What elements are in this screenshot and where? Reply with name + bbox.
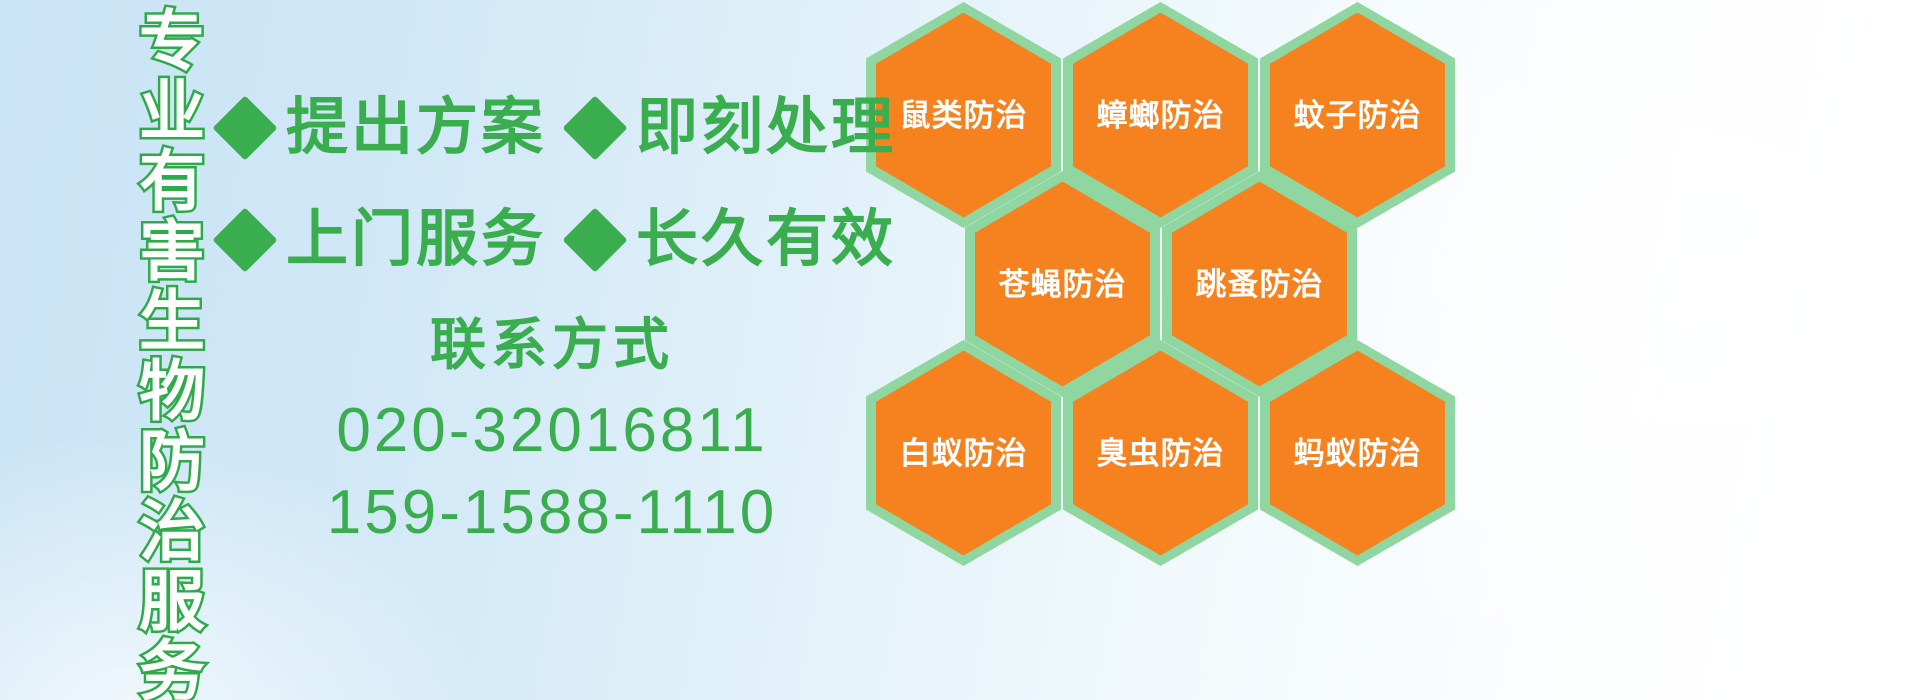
diamond-bullet-icon xyxy=(212,207,277,272)
feature-list: 提出方案 即刻处理 上门服务 长久有效 xyxy=(222,72,882,296)
service-label: 苍蝇防治 xyxy=(999,269,1127,300)
hex-inner: 跳蚤防治 xyxy=(1172,182,1347,387)
hex-inner: 蟑螂防治 xyxy=(1073,13,1248,218)
vertical-headline: 专业有害生物防治服务 xyxy=(96,6,200,686)
diamond-bullet-icon xyxy=(212,95,277,160)
feature-row: 提出方案 即刻处理 xyxy=(222,72,882,184)
service-label: 臭虫防治 xyxy=(1097,438,1225,469)
promo-banner: 专业有害生物防治服务 提出方案 即刻处理 上门服务 长久有效 联系方式 xyxy=(0,0,1920,700)
service-honeycomb: 鼠类防治 蟑螂防治 蚊子防治 苍蝇防治 跳蚤防治 白蚁防治 xyxy=(858,0,1458,700)
diamond-bullet-icon xyxy=(562,95,627,160)
feature-label: 上门服务 xyxy=(286,209,546,271)
feature-item-longlasting: 长久有效 xyxy=(572,209,896,271)
hex-inner: 白蚁防治 xyxy=(876,351,1051,556)
feature-item-immediate: 即刻处理 xyxy=(572,97,896,159)
feature-label: 长久有效 xyxy=(636,209,896,271)
hex-inner: 蚂蚁防治 xyxy=(1270,351,1445,556)
service-label: 白蚁防治 xyxy=(900,438,1028,469)
service-label: 蟑螂防治 xyxy=(1097,100,1225,131)
hex-inner: 鼠类防治 xyxy=(876,13,1051,218)
feature-label: 即刻处理 xyxy=(636,97,896,159)
phone-mobile[interactable]: 159-1588-1110 xyxy=(222,472,882,554)
hex-inner: 蚊子防治 xyxy=(1270,13,1445,218)
phone-landline[interactable]: 020-32016811 xyxy=(222,390,882,472)
service-label: 鼠类防治 xyxy=(900,100,1028,131)
diamond-bullet-icon xyxy=(562,207,627,272)
feature-label: 提出方案 xyxy=(286,97,546,159)
service-label: 蚊子防治 xyxy=(1294,100,1422,131)
contact-heading: 联系方式 xyxy=(222,310,882,380)
service-label: 跳蚤防治 xyxy=(1196,269,1324,300)
hex-inner: 臭虫防治 xyxy=(1073,351,1248,556)
service-label: 蚂蚁防治 xyxy=(1294,438,1422,469)
contact-block: 联系方式 020-32016811 159-1588-1110 xyxy=(222,310,882,554)
feature-item-onsite: 上门服务 xyxy=(222,209,546,271)
feature-item-propose: 提出方案 xyxy=(222,97,546,159)
feature-row: 上门服务 长久有效 xyxy=(222,184,882,296)
hex-inner: 苍蝇防治 xyxy=(975,182,1150,387)
